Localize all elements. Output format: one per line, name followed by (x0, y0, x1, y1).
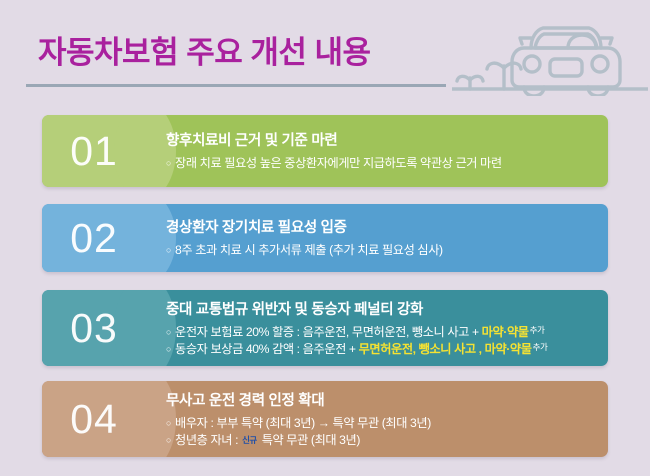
infographic-page: 자동차보험 주요 개선 내용 (0, 0, 650, 476)
section-item-01: 01 향후치료비 근거 및 기준 마련 ○장래 치료 필요성 높은 중상환자에게… (42, 115, 608, 187)
section-inner: 04 무사고 운전 경력 인정 확대 ○배우자 : 부부 특약 (최대 3년) … (42, 381, 608, 457)
bullet-marker-icon: ○ (166, 434, 171, 447)
bullet-text-superscript: 추가 (530, 325, 545, 335)
bullet-text: 배우자 : 부부 특약 (최대 3년) → 특약 무관 (최대 3년) (175, 416, 431, 430)
section-inner: 02 경상환자 장기치료 필요성 입증 ○8주 초과 치료 시 추가서류 제출 … (42, 204, 608, 272)
section-body: 향후치료비 근거 및 기준 마련 ○장래 치료 필요성 높은 중상환자에게만 지… (146, 115, 608, 187)
bullet-item: ○청년층 자녀 : 신규 특약 무관 (최대 3년) (166, 432, 608, 449)
bullet-text: 8주 초과 치료 시 추가서류 제출 (추가 치료 필요성 심사) (175, 243, 443, 257)
car-front-icon (452, 4, 648, 96)
bullet-item: ○장래 치료 필요성 높은 중상환자에게만 지급하도록 약관상 근거 마련 (166, 155, 608, 172)
section-body: 중대 교통법규 위반자 및 동승자 페널티 강화 ○운전자 보험료 20% 할증… (146, 290, 608, 366)
section-item-02: 02 경상환자 장기치료 필요성 입증 ○8주 초과 치료 시 추가서류 제출 … (42, 204, 608, 272)
bullet-text-highlight: 무면허운전, 뺑소니 사고 , 마약·약물 (359, 342, 532, 356)
bullet-list: ○배우자 : 부부 특약 (최대 3년) → 특약 무관 (최대 3년)○청년층… (166, 415, 608, 450)
bullet-marker-icon: ○ (166, 326, 171, 339)
bullet-marker-icon: ○ (166, 343, 171, 356)
section-inner: 03 중대 교통법규 위반자 및 동승자 페널티 강화 ○운전자 보험료 20%… (42, 290, 608, 366)
section-inner: 01 향후치료비 근거 및 기준 마련 ○장래 치료 필요성 높은 중상환자에게… (42, 115, 608, 187)
section-number-panel: 02 (42, 204, 146, 272)
bullet-marker-icon: ○ (166, 244, 171, 257)
bullet-text: 동승자 보상금 40% 감액 : 음주운전 + (175, 342, 359, 356)
section-title: 무사고 운전 경력 인정 확대 (166, 389, 608, 410)
section-body: 경상환자 장기치료 필요성 입증 ○8주 초과 치료 시 추가서류 제출 (추가… (146, 204, 608, 272)
section-number-panel: 01 (42, 115, 146, 187)
section-title: 경상환자 장기치료 필요성 입증 (166, 216, 608, 237)
section-number: 03 (70, 308, 118, 349)
bullet-list: ○8주 초과 치료 시 추가서류 제출 (추가 치료 필요성 심사) (166, 242, 608, 259)
bullet-text-superscript: 추가 (533, 342, 548, 352)
bullet-marker-icon: ○ (166, 417, 171, 430)
bullet-item: ○동승자 보상금 40% 감액 : 음주운전 + 무면허운전, 뺑소니 사고 ,… (166, 341, 608, 358)
badge-new: 신규 (242, 435, 257, 445)
section-title: 중대 교통법규 위반자 및 동승자 페널티 강화 (166, 298, 608, 319)
bullet-text: 장래 치료 필요성 높은 중상환자에게만 지급하도록 약관상 근거 마련 (175, 156, 502, 170)
bullet-list: ○운전자 보험료 20% 할증 : 음주운전, 무면허운전, 뺑소니 사고 + … (166, 324, 608, 359)
section-title: 향후치료비 근거 및 기준 마련 (166, 129, 608, 150)
header: 자동차보험 주요 개선 내용 (0, 0, 650, 103)
bullet-text: 청년층 자녀 : (175, 433, 241, 447)
bullet-marker-icon: ○ (166, 157, 171, 170)
section-number: 04 (70, 399, 118, 440)
section-number: 01 (70, 131, 118, 172)
section-number-panel: 03 (42, 290, 146, 366)
section-item-04: 04 무사고 운전 경력 인정 확대 ○배우자 : 부부 특약 (최대 3년) … (42, 381, 608, 457)
bullet-text: 운전자 보험료 20% 할증 : 음주운전, 무면허운전, 뺑소니 사고 + (175, 325, 482, 339)
section-number-panel: 04 (42, 381, 146, 457)
section-number: 02 (70, 218, 118, 259)
bullet-item: ○배우자 : 부부 특약 (최대 3년) → 특약 무관 (최대 3년) (166, 415, 608, 432)
section-body: 무사고 운전 경력 인정 확대 ○배우자 : 부부 특약 (최대 3년) → 특… (146, 381, 608, 457)
bullet-text: 특약 무관 (최대 3년) (259, 433, 360, 447)
bullet-list: ○장래 치료 필요성 높은 중상환자에게만 지급하도록 약관상 근거 마련 (166, 155, 608, 172)
bullet-text-highlight: 마약·약물 (482, 325, 529, 339)
section-item-03: 03 중대 교통법규 위반자 및 동승자 페널티 강화 ○운전자 보험료 20%… (42, 290, 608, 366)
page-title: 자동차보험 주요 개선 내용 (38, 27, 371, 72)
title-underline-divider (26, 84, 446, 87)
bullet-item: ○8주 초과 치료 시 추가서류 제출 (추가 치료 필요성 심사) (166, 242, 608, 259)
bullet-item: ○운전자 보험료 20% 할증 : 음주운전, 무면허운전, 뺑소니 사고 + … (166, 324, 608, 341)
